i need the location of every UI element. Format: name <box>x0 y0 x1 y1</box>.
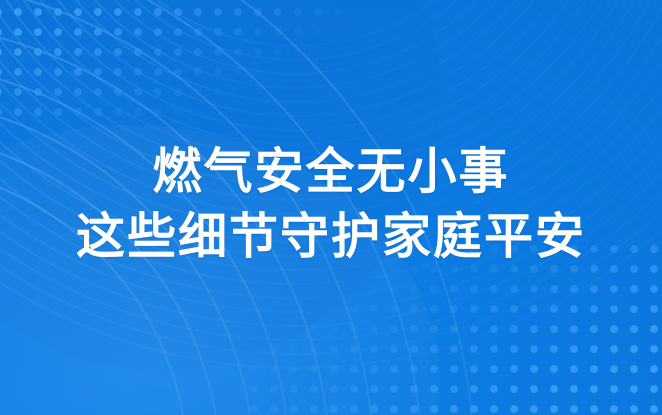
headline-line-2: 这些细节守护家庭平安 <box>0 204 662 269</box>
gas-safety-banner: 燃气安全无小事 这些细节守护家庭平安 <box>0 0 662 415</box>
headline-line-1: 燃气安全无小事 <box>0 139 662 204</box>
banner-headline: 燃气安全无小事 这些细节守护家庭平安 <box>0 139 662 269</box>
